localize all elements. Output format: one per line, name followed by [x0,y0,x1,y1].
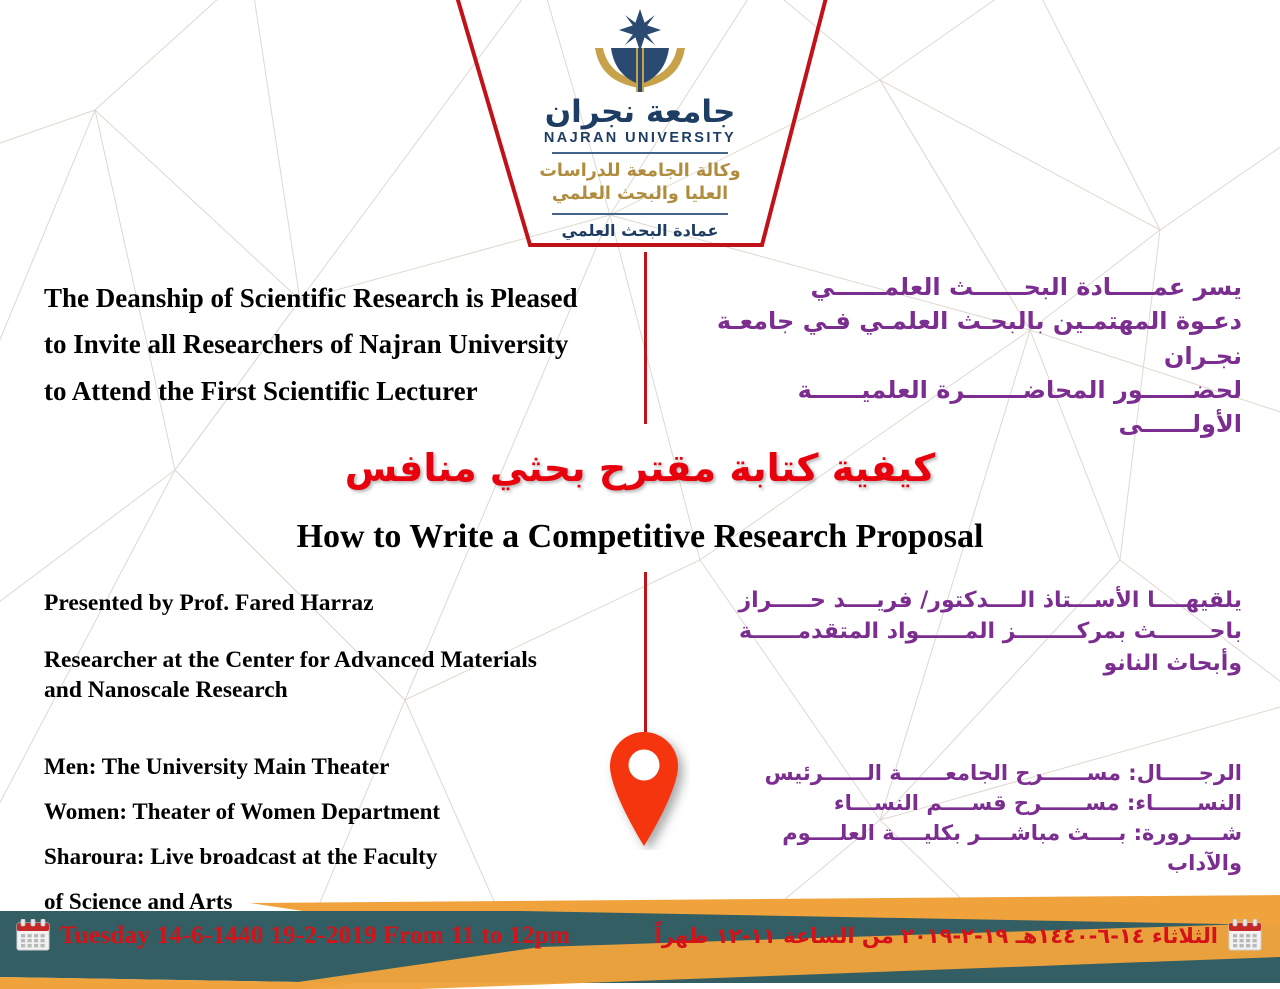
venue-en-line-2: Women: Theater of Women Department [44,789,634,834]
vertical-divider-bottom [644,572,647,732]
footer-bar: Tuesday 14-6-1440 19-2-2019 From 11 to 1… [0,895,1280,989]
university-logo-block: جامعة نجران NAJRAN UNIVERSITY وكالة الجا… [480,8,800,240]
logo-divider-bottom [552,213,728,215]
invitation-en-line-2: to Invite all Researchers of Najran Univ… [44,321,634,367]
logo-divider-top [552,152,728,154]
calendar-icon [1228,919,1262,951]
speaker-ar-line-3: وأبحاث النانو [712,648,1242,679]
calendar-icon [16,919,50,951]
venue-ar-line-1: الرجـــــال: مســــــرح الجامعــــــة ال… [722,758,1242,788]
logo-agency-line-2: العليا والبحث العلمي [480,183,800,207]
najran-university-emblem-icon [555,8,725,100]
logo-arabic-name: جامعة نجران [480,96,800,129]
speaker-en-line-2: Researcher at the Center for Advanced Ma… [44,645,634,676]
speaker-ar-line-2: باحـــــــث بمركــــــــز المــــــواد ا… [712,616,1242,647]
vertical-divider-top [644,252,647,424]
invitation-text-english: The Deanship of Scientific Research is P… [44,275,634,414]
invitation-ar-line-3: لحضــــــور المحاضـــــــرة العلميــــــ… [682,373,1242,442]
invitation-text-arabic: يسر عمـــــادة البحــــــث العلمــــــي … [682,270,1242,442]
invitation-ar-line-2: دعـوة المهتمـين بالبحـث العلمـي فـي جامع… [682,304,1242,373]
speaker-text-english: Presented by Prof. Fared Harraz Research… [44,588,634,706]
venue-en-line-3: Sharoura: Live broadcast at the Faculty [44,834,634,879]
speaker-en-line-1: Presented by Prof. Fared Harraz [44,588,634,619]
lecture-title-english: How to Write a Competitive Research Prop… [0,518,1280,556]
invitation-ar-line-1: يسر عمـــــادة البحــــــث العلمــــــي [682,270,1242,304]
footer-datetime-english: Tuesday 14-6-1440 19-2-2019 From 11 to 1… [60,922,570,950]
speaker-text-arabic: يلقيهــــا الأســـتاذ الــــدكتور/ فريــ… [712,585,1242,679]
venue-ar-line-2: النســــــاء: مســــــرح قســــم النســـ… [722,788,1242,818]
poster-canvas: جامعة نجران NAJRAN UNIVERSITY وكالة الجا… [0,0,1280,989]
logo-english-name: NAJRAN UNIVERSITY [480,130,800,146]
venue-en-line-1: Men: The University Main Theater [44,744,634,789]
speaker-en-line-3: and Nanoscale Research [44,675,634,706]
footer-datetime-arabic: الثلاثاء ١٤-٦-١٤٤٠هـ ١٩-٢-٢٠١٩ من الساعة… [655,924,1218,948]
invitation-en-line-3: to Attend the First Scientific Lecturer [44,368,634,414]
logo-deanship-line: عمادة البحث العلمي [480,221,800,240]
speaker-ar-line-1: يلقيهــــا الأســـتاذ الــــدكتور/ فريــ… [712,585,1242,616]
venue-text-arabic: الرجـــــال: مســــــرح الجامعــــــة ال… [722,758,1242,878]
lecture-title-arabic: كيفية كتابة مقترح بحثي منافس [0,446,1280,490]
invitation-en-line-1: The Deanship of Scientific Research is P… [44,275,634,321]
venue-ar-line-3: شــــرورة: بــــث مباشــــر بكليــــة ال… [722,818,1242,878]
logo-agency-line-1: وكالة الجامعة للدراسات [480,160,800,184]
